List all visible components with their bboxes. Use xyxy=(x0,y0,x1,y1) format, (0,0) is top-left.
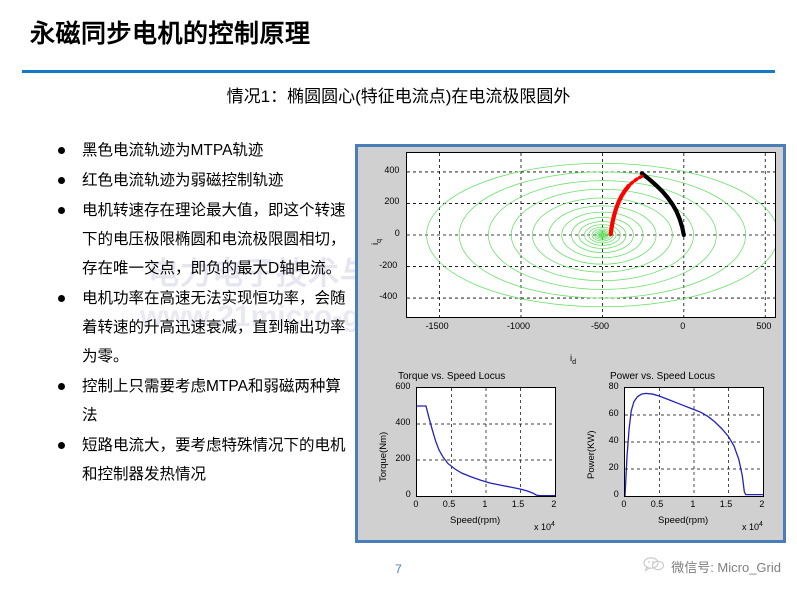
plot-area xyxy=(624,387,764,497)
bullet-dot-icon xyxy=(58,207,65,214)
axis-tick-label: -500 xyxy=(591,321,609,331)
wechat-id-label: 微信号: Micro_Grid xyxy=(671,557,781,576)
list-item-text: 红色电流轨迹为弱磁控制轨迹 xyxy=(82,172,284,189)
list-item: 红色电流轨迹为弱磁控制轨迹 xyxy=(48,166,348,195)
bullet-dot-icon xyxy=(58,177,65,184)
list-item-text: 黑色电流轨迹为MTPA轨迹 xyxy=(82,142,263,159)
axis-tick-label: 60 xyxy=(609,408,619,418)
axis-tick-label: 1.5 xyxy=(720,499,733,509)
axis-tick-label: 2 xyxy=(759,499,764,509)
bullet-dot-icon xyxy=(58,383,65,390)
axis-tick-label: 200 xyxy=(395,453,410,463)
power-chart-title: Power vs. Speed Locus xyxy=(610,371,715,382)
axis-tick-label: 0 xyxy=(406,489,411,499)
list-item: 控制上只需要考虑MTPA和弱磁两种算法 xyxy=(48,372,348,430)
current-locus-svg xyxy=(407,153,775,317)
y-axis-label: iq xyxy=(370,239,383,245)
axis-tick-label: 400 xyxy=(384,165,399,175)
page-title: 永磁同步电机的控制原理 xyxy=(30,14,311,50)
list-item: 电机功率在高速无法实现恒功率，会随着转速的升高迅速衰减，直到输出功率为零。 xyxy=(48,284,348,371)
axis-tick-label: 1 xyxy=(482,499,487,509)
axis-tick-label: 600 xyxy=(395,381,410,391)
list-item-text: 电机转速存在理论最大值，即这个转速下的电压极限椭圆和电流极限圆相切，存在唯一交点… xyxy=(82,202,346,277)
axis-tick-label: -1500 xyxy=(426,321,449,331)
chart-power-speed: Power vs. Speed Locus 020406080 00.511.5… xyxy=(576,369,783,541)
chat-bubble-icon xyxy=(643,556,665,577)
axis-tick-label: 0 xyxy=(413,499,418,509)
x-axis-exponent: x 104 xyxy=(742,521,763,532)
wechat-footer: 微信号: Micro_Grid xyxy=(643,556,781,577)
axis-tick-label: 0 xyxy=(621,499,626,509)
axis-tick-label: 0.5 xyxy=(443,499,456,509)
torque-curve-svg xyxy=(417,388,555,496)
axis-tick-label: 20 xyxy=(609,462,619,472)
plot-area xyxy=(406,152,776,318)
list-item-text: 控制上只需要考虑MTPA和弱磁两种算法 xyxy=(82,378,341,424)
bullet-dot-icon xyxy=(58,147,65,154)
list-item-text: 电机功率在高速无法实现恒功率，会随着转速的升高迅速衰减，直到输出功率为零。 xyxy=(82,290,346,365)
axis-tick-label: 1.5 xyxy=(512,499,525,509)
list-item-text: 短路电流大，要考虑特殊情况下的电机和控制器发热情况 xyxy=(82,437,346,483)
axis-tick-label: 200 xyxy=(384,196,399,206)
axis-tick-label: 400 xyxy=(395,417,410,427)
torque-chart-title: Torque vs. Speed Locus xyxy=(398,371,505,382)
axis-tick-label: 500 xyxy=(756,321,771,331)
list-item: 电机转速存在理论最大值，即这个转速下的电压极限椭圆和电流极限圆相切，存在唯一交点… xyxy=(48,196,348,283)
axis-tick-label: 1 xyxy=(690,499,695,509)
y-axis-label: Power(KW) xyxy=(586,430,597,479)
x-axis-label: id xyxy=(570,353,576,366)
axis-tick-label: 0 xyxy=(614,489,619,499)
x-axis-label: Speed(rpm) xyxy=(450,515,500,526)
list-item: 短路电流大，要考虑特殊情况下的电机和控制器发热情况 xyxy=(48,431,348,489)
x-axis-exponent: x 104 xyxy=(534,521,555,532)
list-item: 黑色电流轨迹为MTPA轨迹 xyxy=(48,136,348,165)
bullet-list: 黑色电流轨迹为MTPA轨迹 红色电流轨迹为弱磁控制轨迹 电机转速存在理论最大值，… xyxy=(48,136,348,490)
x-axis-label: Speed(rpm) xyxy=(658,515,708,526)
axis-tick-label: 0 xyxy=(395,228,400,238)
axis-tick-label: -200 xyxy=(379,260,397,270)
axis-tick-label: 40 xyxy=(609,435,619,445)
plot-area xyxy=(416,387,556,497)
matlab-figure-panel: -400-2000200400 -1500-1000-5000500 iq id… xyxy=(355,144,786,543)
chart-current-locus: -400-2000200400 -1500-1000-5000500 iq id xyxy=(358,147,783,367)
slide-subtitle: 情况1：椭圆圆心(特征电流点)在电流极限圆外 xyxy=(0,82,797,107)
axis-tick-label: 2 xyxy=(551,499,556,509)
title-divider xyxy=(22,70,775,73)
axis-tick-label: -400 xyxy=(379,291,397,301)
power-curve-svg xyxy=(625,388,763,496)
bullet-dot-icon xyxy=(58,442,65,449)
y-axis-label: Torque(Nm) xyxy=(378,432,389,482)
axis-tick-label: 80 xyxy=(609,381,619,391)
axis-tick-label: -1000 xyxy=(507,321,530,331)
axis-tick-label: 0.5 xyxy=(651,499,664,509)
chart-torque-speed: Torque vs. Speed Locus 0200400600 00.511… xyxy=(362,369,574,541)
bullet-dot-icon xyxy=(58,295,65,302)
axis-tick-label: 0 xyxy=(680,321,685,331)
